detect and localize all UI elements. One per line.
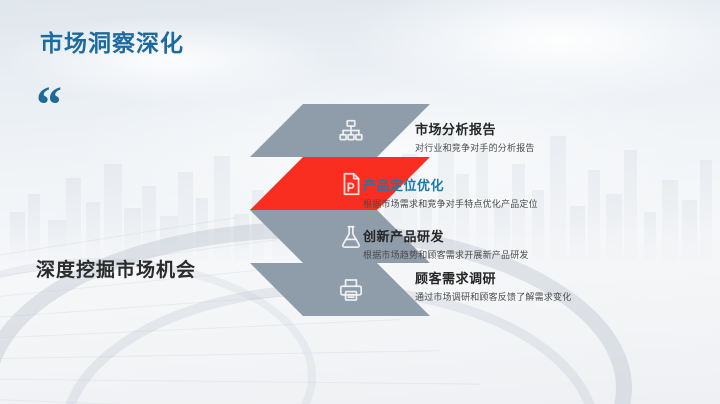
item-title: 市场分析报告 bbox=[415, 119, 535, 138]
item-description: 根据市场趋势和顾客需求开展新产品研发 bbox=[363, 248, 529, 261]
list-item[interactable]: 产品定位优化 根据市场需求和竞争对手特点优化产品定位 bbox=[363, 175, 538, 210]
item-description: 对行业和竞争对手的分析报告 bbox=[415, 141, 535, 154]
list-item[interactable]: 创新产品研发 根据市场趋势和顾客需求开展新产品研发 bbox=[363, 226, 529, 261]
item-title: 创新产品研发 bbox=[363, 226, 529, 245]
item-description: 通过市场调研和顾客反馈了解需求变化 bbox=[415, 290, 571, 303]
insight-item-list: 市场分析报告 对行业和竞争对手的分析报告 产品定位优化 根据市场需求和竞争对手特… bbox=[0, 0, 720, 404]
item-title: 顾客需求调研 bbox=[415, 268, 571, 287]
item-title: 产品定位优化 bbox=[363, 175, 538, 194]
list-item[interactable]: 市场分析报告 对行业和竞争对手的分析报告 bbox=[415, 119, 535, 154]
list-item[interactable]: 顾客需求调研 通过市场调研和顾客反馈了解需求变化 bbox=[415, 268, 571, 303]
presentation-slide: 市场洞察深化 “ 深度挖掘市场机会 bbox=[0, 0, 720, 404]
item-description: 根据市场需求和竞争对手特点优化产品定位 bbox=[363, 197, 538, 210]
